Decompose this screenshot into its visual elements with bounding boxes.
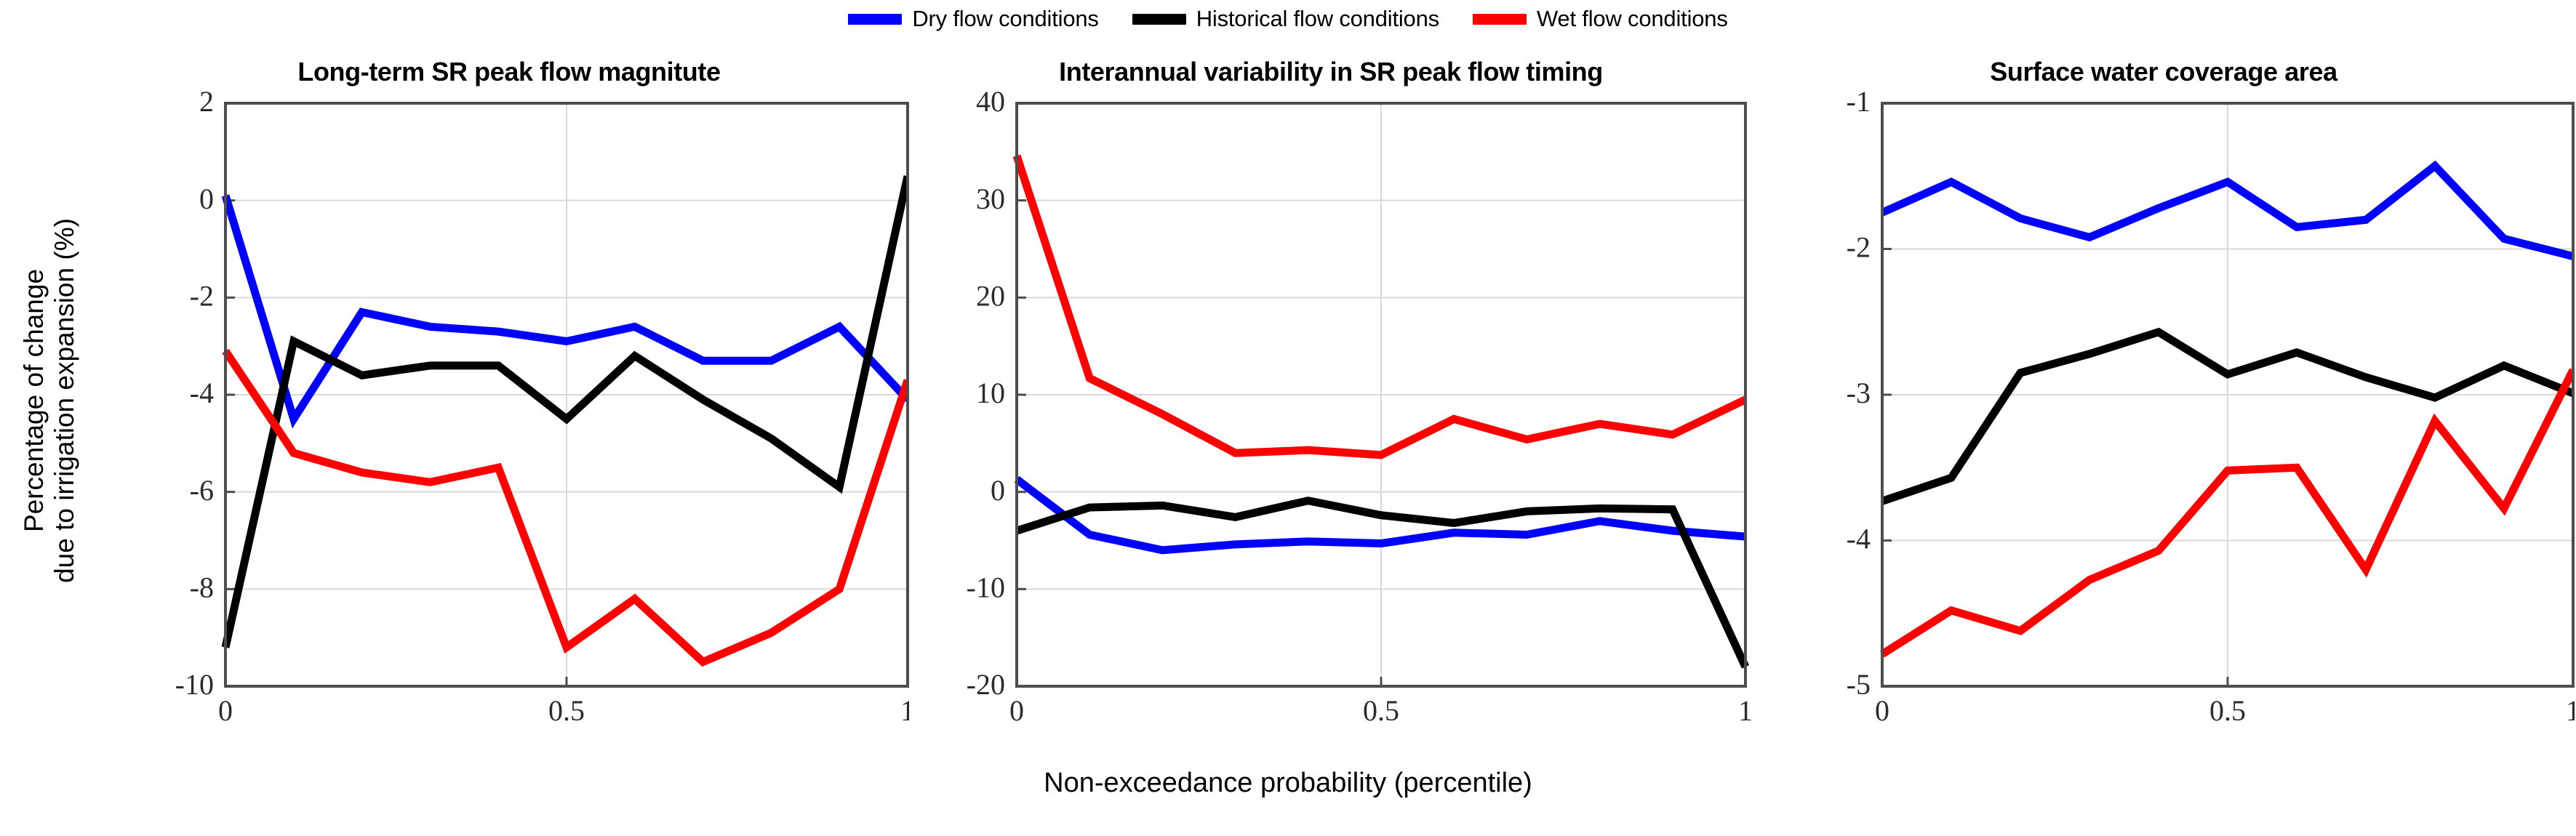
x-tick-label: 0.5 [548, 694, 585, 727]
y-tick-label: 40 [976, 90, 1005, 118]
y-tick-label: -4 [1847, 523, 1871, 555]
x-tick-label: 0.5 [2209, 694, 2246, 727]
panel-1-plot: 20-2-4-6-8-1000.51 [109, 90, 909, 748]
panel-3-title: Surface water coverage area [1753, 57, 2575, 87]
x-tick-label: 1 [900, 694, 909, 727]
panel-surface-water: Surface water coverage area -1-2-3-4-500… [1753, 57, 2575, 733]
panel-1-title: Long-term SR peak flow magnitute [109, 57, 909, 87]
y-tick-label: -10 [967, 571, 1005, 604]
y-tick-label: -4 [190, 377, 214, 409]
y-tick-label: 30 [976, 182, 1005, 215]
y-axis-label-line1: Percentage of change [20, 269, 49, 532]
legend-label-historical: Historical flow conditions [1196, 6, 1439, 32]
y-tick-label: -6 [190, 474, 214, 507]
x-tick-label: 0 [1875, 694, 1889, 727]
y-tick-label: 2 [199, 90, 214, 118]
y-tick-label: -5 [1847, 668, 1871, 701]
plot-area-3: -1-2-3-4-500.51 [1753, 90, 2575, 744]
legend-item-dry: Dry flow conditions [848, 6, 1098, 32]
y-tick-label: -10 [175, 668, 214, 701]
panel-peak-flow-magnitude: Long-term SR peak flow magnitute 20-2-4-… [109, 57, 909, 733]
legend-swatch-wet [1473, 14, 1527, 25]
y-tick-label: 10 [976, 377, 1005, 409]
legend-swatch-historical [1132, 14, 1186, 25]
y-tick-label: -20 [967, 668, 1005, 701]
legend-item-historical: Historical flow conditions [1132, 6, 1439, 32]
panel-2-title: Interannual variability in SR peak flow … [909, 57, 1753, 87]
x-axis-label: Non-exceedance probability (percentile) [0, 768, 2576, 799]
legend-item-wet: Wet flow conditions [1473, 6, 1728, 32]
chart-legend: Dry flow conditions Historical flow cond… [0, 3, 2576, 35]
y-tick-label: 0 [199, 182, 214, 215]
y-tick-label: -3 [1847, 377, 1871, 409]
legend-swatch-dry [848, 14, 902, 25]
x-tick-label: 1 [1738, 694, 1753, 727]
y-tick-label: 20 [976, 280, 1005, 313]
y-tick-label: -1 [1847, 90, 1871, 118]
x-tick-label: 0.5 [1363, 694, 1399, 727]
panel-peak-flow-timing: Interannual variability in SR peak flow … [909, 57, 1753, 733]
y-tick-label: 0 [991, 474, 1005, 507]
legend-label-wet: Wet flow conditions [1537, 6, 1728, 32]
y-tick-label: -2 [190, 280, 214, 313]
panel-3-plot: -1-2-3-4-500.51 [1753, 90, 2575, 748]
x-tick-label: 0 [218, 694, 233, 727]
panel-2-plot: 403020100-10-2000.51 [909, 90, 1753, 748]
y-tick-label: -8 [190, 571, 214, 604]
x-tick-label: 0 [1009, 694, 1024, 727]
plot-area-2: 403020100-10-2000.51 [909, 90, 1753, 744]
plot-area-1: 20-2-4-6-8-1000.51 [109, 90, 909, 744]
y-axis-label-line2: due to irrigation expansion (%) [50, 218, 79, 583]
figure-root: Dry flow conditions Historical flow cond… [0, 0, 2576, 836]
y-tick-label: -2 [1847, 231, 1871, 264]
x-tick-label: 1 [2566, 694, 2575, 727]
legend-label-dry: Dry flow conditions [912, 6, 1098, 32]
